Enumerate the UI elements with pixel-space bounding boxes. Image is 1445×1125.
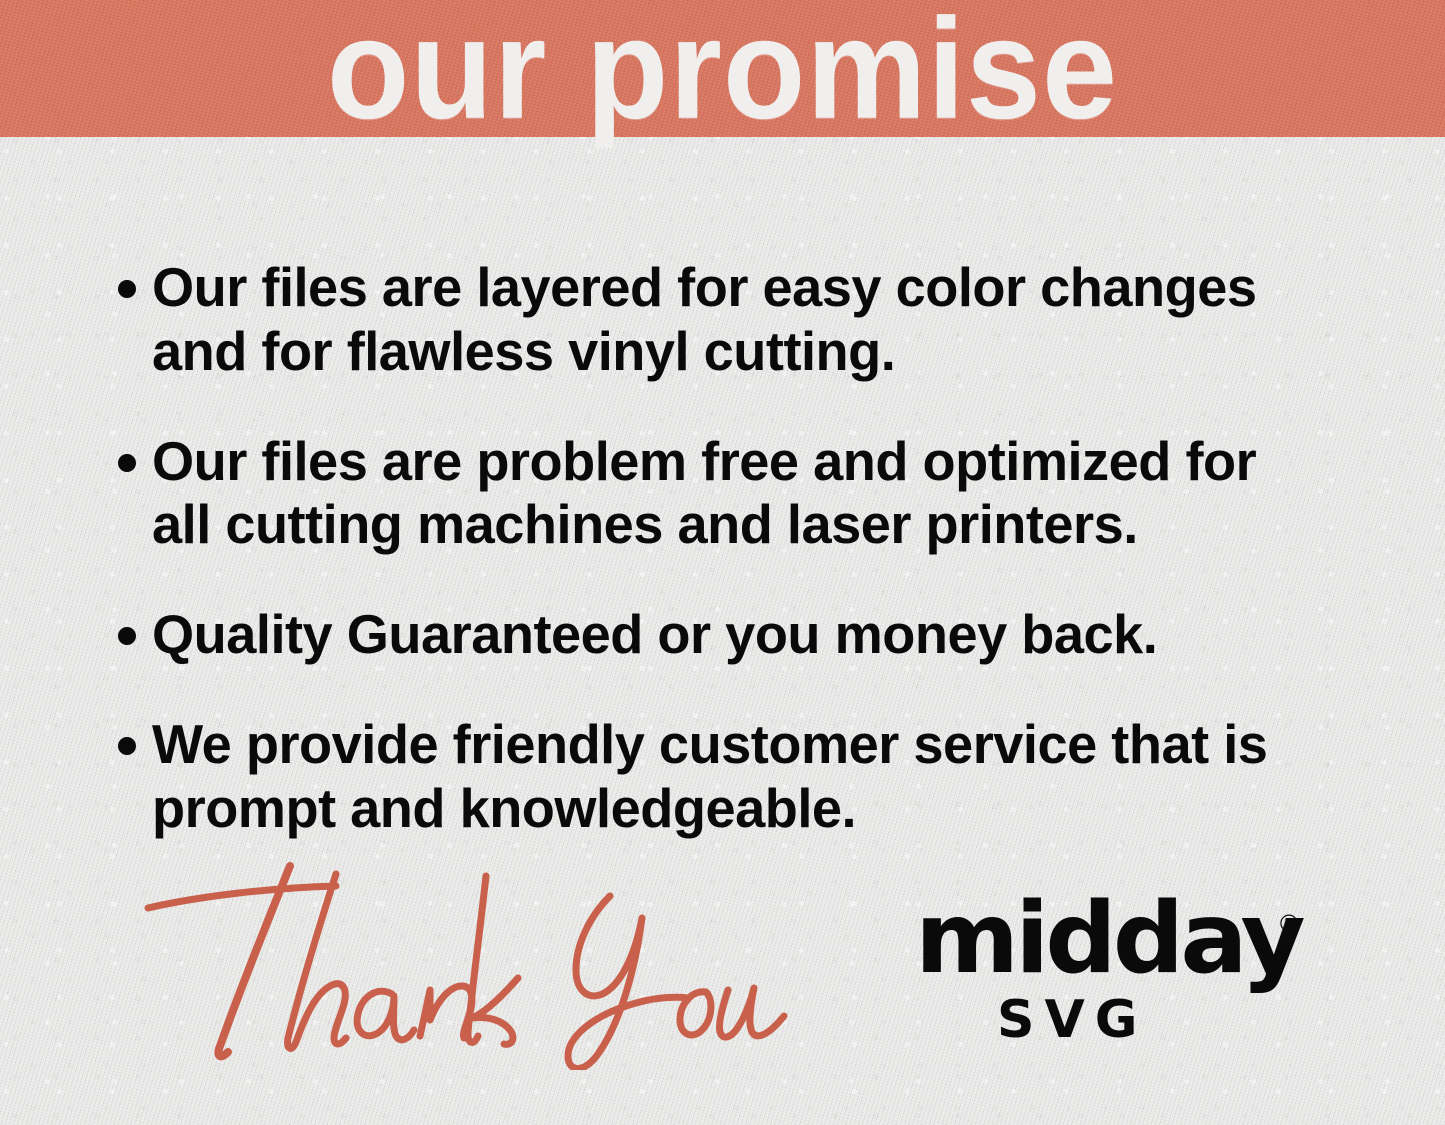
list-item: Our files are problem free and optimized… [118,430,1338,558]
promise-list: Our files are layered for easy color cha… [118,256,1338,841]
list-item: Quality Guaranteed or you money back. [118,603,1338,667]
thank-you-signature: Thank You [140,860,800,1070]
bullet-icon [118,280,136,298]
bullet-icon [118,627,136,645]
list-item-label: Quality Guaranteed or you money back. [152,603,1320,667]
list-item-label: Our files are problem free and optimized… [152,430,1320,558]
promise-card: our promise Our files are layered for ea… [0,0,1445,1125]
logo-subtext: SVG [997,994,1147,1046]
logo-wordmark: midday [915,890,1302,988]
logo-wordmark-row: midday ® [915,898,1315,993]
list-item-label: We provide friendly customer service tha… [152,713,1320,841]
bullet-icon [118,737,136,755]
list-item: We provide friendly customer service tha… [118,713,1338,841]
bullet-icon [118,454,136,472]
list-item-label: Our files are layered for easy color cha… [152,256,1320,384]
page-title: our promise [0,0,1445,141]
brand-logo: midday ® SVG [915,898,1315,993]
registered-trademark-icon: ® [1277,912,1301,936]
list-item: Our files are layered for easy color cha… [118,256,1338,384]
